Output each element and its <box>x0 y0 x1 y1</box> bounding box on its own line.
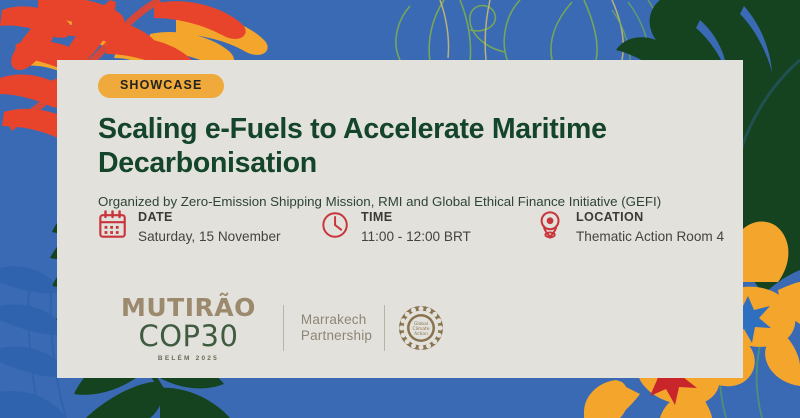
event-banner: SHOWCASE Scaling e-Fuels to Accelerate M… <box>0 0 800 418</box>
meta-location-value: Thematic Action Room 4 <box>576 228 724 246</box>
marrakech-line-1: Marrakech <box>301 312 372 328</box>
calendar-icon <box>98 209 128 241</box>
meta-item-date: DATE Saturday, 15 November <box>98 208 321 246</box>
meta-time-text: TIME 11:00 - 12:00 BRT <box>361 208 471 246</box>
gca-line-3: Action <box>414 331 428 337</box>
meta-date-label: DATE <box>138 210 173 224</box>
cop30-logo-belem: BELÉM 2025 <box>121 356 256 363</box>
meta-item-time: TIME 11:00 - 12:00 BRT <box>321 208 536 246</box>
logo-divider-right <box>384 305 385 351</box>
meta-time-value: 11:00 - 12:00 BRT <box>361 228 471 246</box>
showcase-badge: SHOWCASE <box>98 74 224 98</box>
meta-location-label: LOCATION <box>576 210 644 224</box>
event-card: SHOWCASE Scaling e-Fuels to Accelerate M… <box>57 60 743 378</box>
meta-time-label: TIME <box>361 210 392 224</box>
meta-date-value: Saturday, 15 November <box>138 228 281 246</box>
card-header: SHOWCASE Scaling e-Fuels to Accelerate M… <box>98 74 725 210</box>
meta-location-text: LOCATION Thematic Action Room 4 <box>576 208 724 246</box>
marrakech-partnership-logo: Marrakech Partnership <box>301 312 372 345</box>
logo-row: MUTIRÃO COP30 BELÉM 2025 Marrakech Partn… <box>121 295 445 363</box>
cop30-logo: MUTIRÃO COP30 BELÉM 2025 <box>121 295 256 363</box>
marrakech-line-2: Partnership <box>301 328 372 344</box>
meta-item-location: LOCATION Thematic Action Room 4 <box>536 208 724 246</box>
cop30-logo-mutirao: MUTIRÃO <box>121 295 256 320</box>
logo-divider-left <box>283 305 284 351</box>
location-pin-icon <box>536 209 566 241</box>
global-climate-action-badge: Global Climate Action <box>397 304 445 352</box>
clock-icon <box>321 209 351 241</box>
cop30-logo-cop30: COP30 <box>121 322 256 351</box>
event-meta-row: DATE Saturday, 15 November TIME 11:00 - … <box>98 208 724 246</box>
event-title: Scaling e-Fuels to Accelerate Maritime D… <box>98 112 698 180</box>
meta-date-text: DATE Saturday, 15 November <box>138 208 281 246</box>
